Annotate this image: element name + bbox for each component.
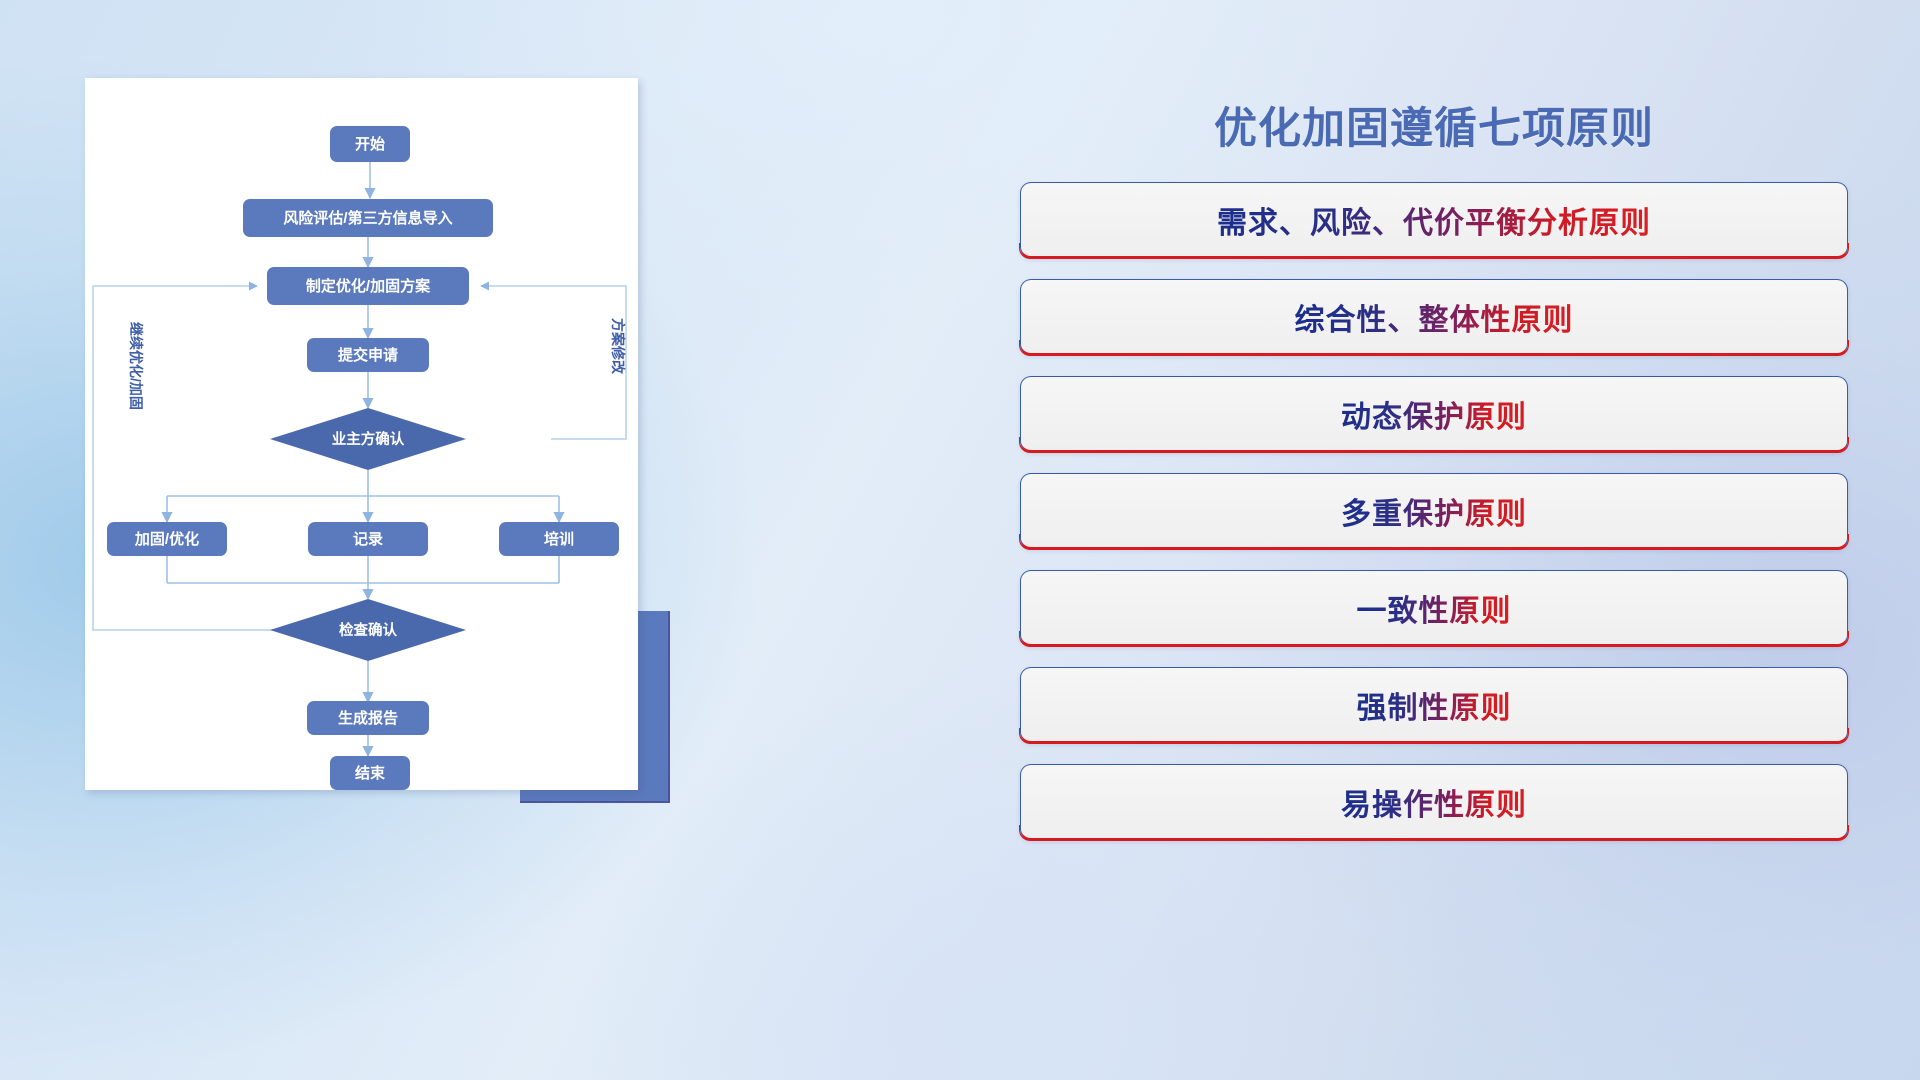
principle-card[interactable]: 综合性、整体性原则: [1020, 279, 1848, 355]
node-risk-assessment-label: 风险评估/第三方信息导入: [283, 209, 452, 227]
principle-card[interactable]: 易操作性原则: [1020, 764, 1848, 840]
principle-card[interactable]: 一致性原则: [1020, 570, 1848, 646]
edge-label-continue-optimize: 继续优化/加固: [128, 322, 144, 410]
node-end[interactable]: 结束: [330, 756, 410, 790]
node-record-label: 记录: [353, 531, 383, 548]
node-submit-application[interactable]: 提交申请: [307, 338, 429, 372]
node-inspection-confirm[interactable]: 检查确认: [270, 599, 466, 661]
node-risk-assessment[interactable]: 风险评估/第三方信息导入: [243, 199, 493, 237]
principle-label: 多重保护原则: [1341, 489, 1527, 533]
flowchart-panel: 开始 风险评估/第三方信息导入 制定优化/加固方案 提交申请 业主方确认: [85, 78, 655, 800]
edge-loop-plan-revision: [481, 286, 626, 439]
principle-label: 强制性原则: [1357, 683, 1512, 727]
node-make-plan[interactable]: 制定优化/加固方案: [267, 267, 469, 305]
flowchart-diagram: 开始 风险评估/第三方信息导入 制定优化/加固方案 提交申请 业主方确认: [85, 78, 638, 790]
node-start[interactable]: 开始: [330, 126, 410, 162]
principles-title: 优化加固遵循七项原则: [1020, 86, 1848, 172]
node-end-label: 结束: [355, 764, 386, 782]
node-owner-confirm[interactable]: 业主方确认: [270, 408, 466, 470]
node-owner-confirm-label: 业主方确认: [332, 430, 405, 448]
node-training[interactable]: 培训: [499, 522, 619, 556]
node-inspection-confirm-label: 检查确认: [339, 621, 397, 639]
node-reinforce-optimize-label: 加固/优化: [134, 530, 199, 548]
principle-label: 需求、风险、代价平衡分析原则: [1217, 198, 1651, 242]
principles-list: 需求、风险、代价平衡分析原则 综合性、整体性原则 动态保护原则 多重保护原则 一…: [1020, 182, 1848, 840]
principle-card[interactable]: 动态保护原则: [1020, 376, 1848, 452]
flowchart-nodes: 开始 风险评估/第三方信息导入 制定优化/加固方案 提交申请 业主方确认: [107, 126, 619, 790]
node-start-label: 开始: [355, 135, 385, 153]
principle-label: 一致性原则: [1357, 586, 1512, 630]
principle-label: 综合性、整体性原则: [1295, 295, 1574, 339]
node-submit-application-label: 提交申请: [338, 346, 398, 364]
node-make-plan-label: 制定优化/加固方案: [306, 277, 431, 295]
node-generate-report-label: 生成报告: [338, 709, 398, 727]
principle-card[interactable]: 需求、风险、代价平衡分析原则: [1020, 182, 1848, 258]
node-reinforce-optimize[interactable]: 加固/优化: [107, 522, 227, 556]
node-generate-report[interactable]: 生成报告: [307, 701, 429, 735]
node-record[interactable]: 记录: [308, 522, 428, 556]
flowchart-card: 开始 风险评估/第三方信息导入 制定优化/加固方案 提交申请 业主方确认: [85, 78, 638, 790]
principle-card[interactable]: 多重保护原则: [1020, 473, 1848, 549]
edge-label-plan-revision: 方案修改: [610, 318, 626, 375]
principles-panel: 优化加固遵循七项原则 需求、风险、代价平衡分析原则 综合性、整体性原则 动态保护…: [1020, 86, 1848, 1016]
principle-card[interactable]: 强制性原则: [1020, 667, 1848, 743]
principle-label: 易操作性原则: [1341, 780, 1527, 824]
node-training-label: 培训: [544, 530, 574, 548]
principle-label: 动态保护原则: [1341, 392, 1527, 436]
